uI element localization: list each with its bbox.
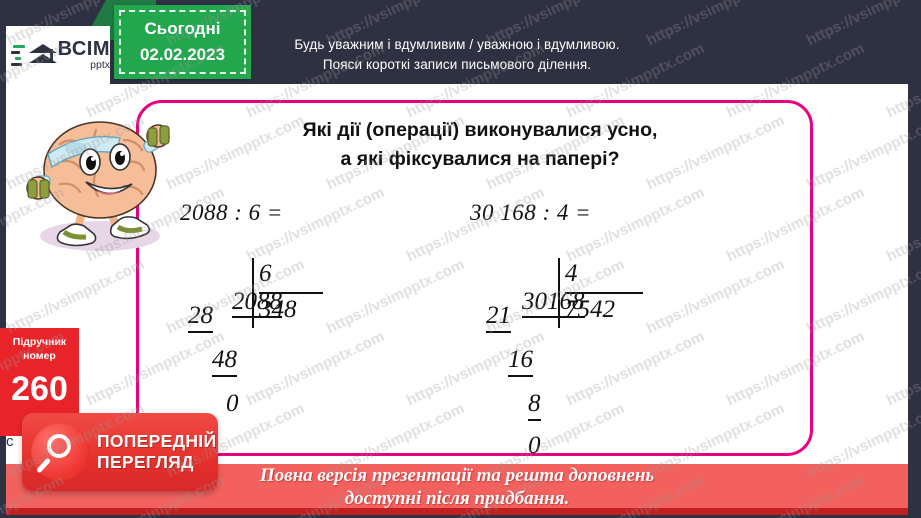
left-quotient: 348 — [259, 292, 323, 324]
left-step-1: 28 — [188, 302, 213, 333]
right-step-1: 21 — [486, 302, 511, 333]
textbook-label-line-2: номер — [0, 349, 79, 363]
purchase-notice-line-1: Повна версія презентації та решта доповн… — [260, 464, 654, 487]
today-date: 02.02.2023 — [140, 42, 225, 68]
instruction-text: Будь уважним і вдумливим / уважною і вду… — [294, 35, 619, 75]
speed-lines-icon — [11, 42, 27, 68]
slide-canvas: Будь уважним і вдумливим / уважною і вду… — [0, 0, 921, 518]
bottom-accent-strip — [6, 508, 908, 515]
left-step-2: 48 — [212, 346, 237, 377]
problem-right-longdivision: 30168 4 7542 21 16 8 0 — [470, 260, 770, 450]
problem-right-expression: 30 168 : 4 = — [470, 200, 770, 226]
left-step-3: 0 — [226, 390, 239, 418]
today-label: Сьогодні — [145, 16, 221, 42]
right-step-2: 16 — [508, 346, 533, 377]
problem-left-longdivision: 2088 6 348 28 48 0 — [180, 260, 450, 450]
preview-label-line-2: ПЕРЕГЛЯД — [97, 452, 216, 473]
left-division-bar — [252, 258, 254, 328]
right-step-4: 0 — [528, 432, 541, 460]
right-quotient: 7542 — [565, 292, 643, 324]
preview-button-label: ПОПЕРЕДНІЙ ПЕРЕГЛЯД — [97, 431, 216, 473]
question-heading: Які дії (операції) виконувалися усно, а … — [175, 116, 785, 174]
magnifier-icon — [31, 423, 89, 481]
problem-right: 30 168 : 4 = 30168 4 7542 21 16 8 0 — [470, 200, 770, 450]
logo-subtext: pptx — [90, 60, 110, 71]
question-line-2: а які фіксувалися на папері? — [175, 145, 785, 174]
purchase-notice-line-2: доступні після придбання. — [345, 487, 569, 510]
textbook-number: 260 — [0, 369, 79, 409]
brain-mascot — [12, 100, 184, 258]
brand-logo[interactable]: ВСІМ pptx — [6, 26, 110, 84]
preview-button[interactable]: ПОПЕРЕДНІЙ ПЕРЕГЛЯД — [22, 413, 218, 491]
logo-wordmark: ВСІМ — [58, 39, 110, 59]
left-divisor: 6 — [259, 260, 272, 288]
instruction-line-2: Пояси короткі записи письмового ділення. — [294, 55, 619, 75]
question-line-1: Які дії (операції) виконувалися усно, — [175, 116, 785, 145]
problem-left: 2088 : 6 = 2088 6 348 28 48 0 — [180, 200, 450, 450]
problem-left-expression: 2088 : 6 = — [180, 200, 450, 226]
textbook-label-line-1: Підручник — [0, 335, 79, 349]
instruction-line-1: Будь уважним і вдумливим / уважною і вду… — [294, 35, 619, 55]
today-date-tag: Сьогодні 02.02.2023 — [114, 5, 251, 79]
right-step-3: 8 — [528, 390, 541, 421]
right-division-bar — [558, 258, 560, 328]
preview-label-line-1: ПОПЕРЕДНІЙ — [97, 431, 216, 452]
graduation-cap-icon — [28, 41, 56, 69]
right-divisor: 4 — [565, 260, 578, 288]
